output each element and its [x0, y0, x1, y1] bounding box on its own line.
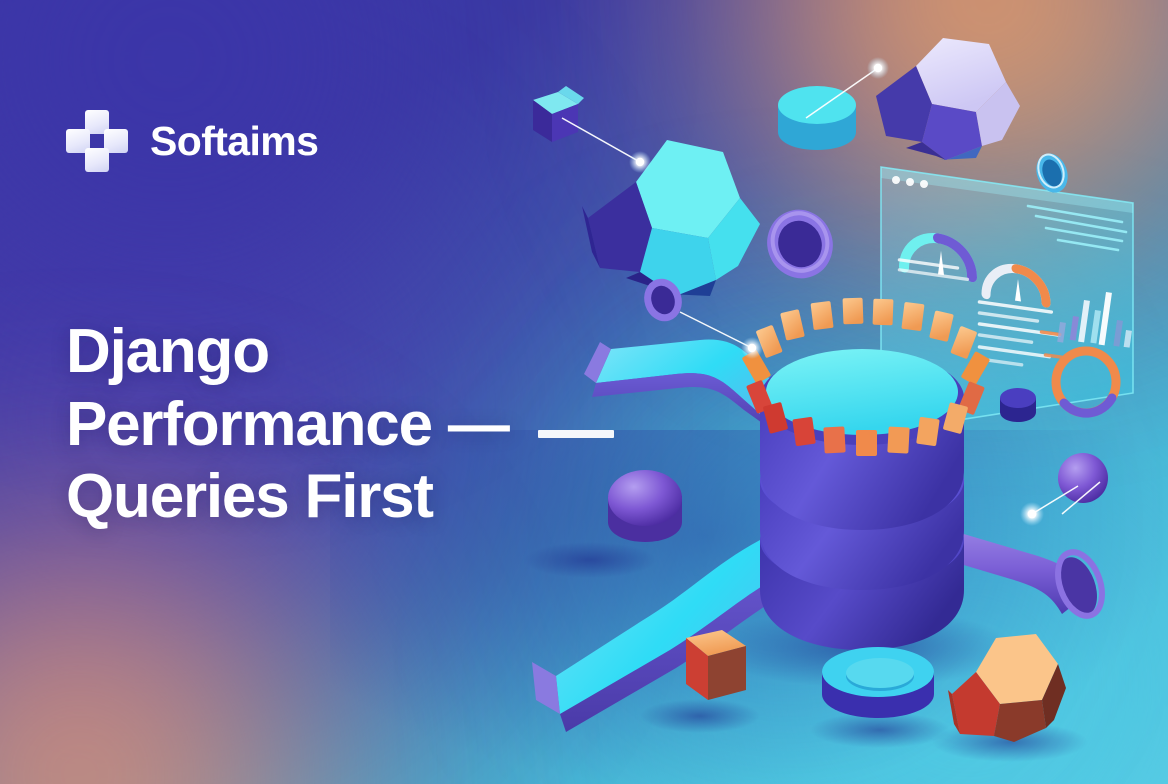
- hero-banner: Softaims Django Performance — Queries Fi…: [0, 0, 1168, 784]
- brand-name: Softaims: [150, 121, 318, 162]
- logo-square-bottom: [85, 148, 109, 172]
- page-title: Django Performance — Queries First: [66, 316, 706, 534]
- brand-logo[interactable]: Softaims: [66, 110, 318, 172]
- plus-squares-logo-icon: [66, 110, 128, 172]
